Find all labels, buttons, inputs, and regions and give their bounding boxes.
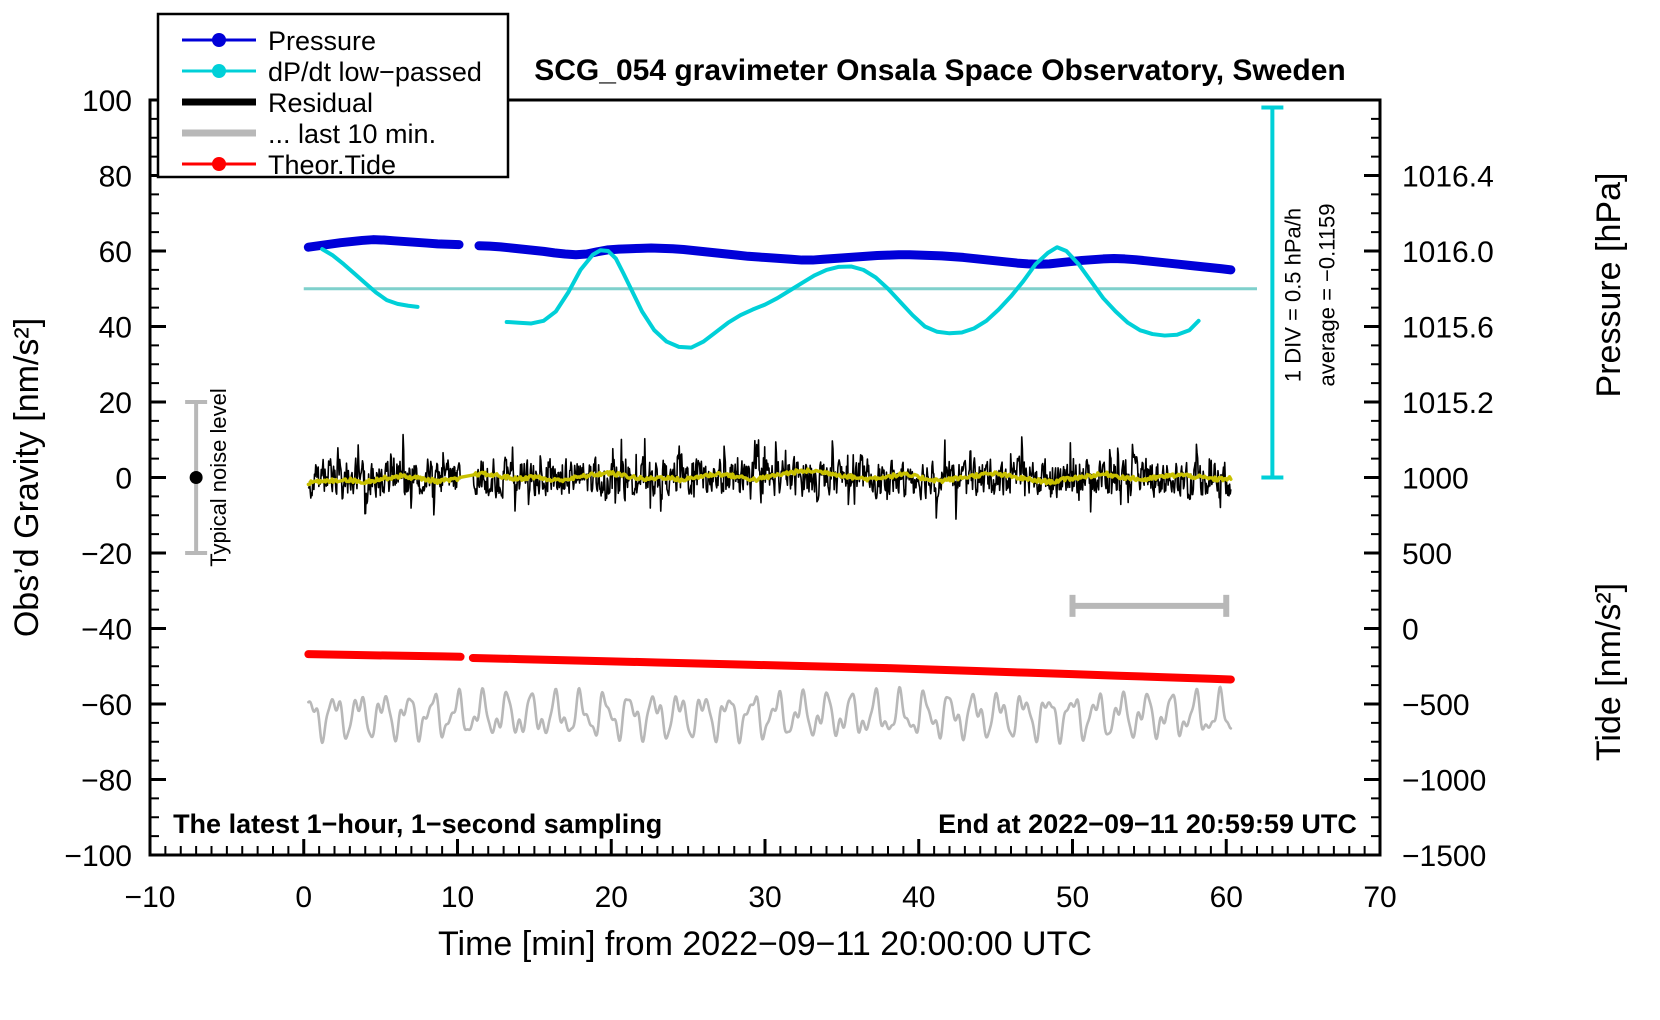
scale-bar-average-label: average = −0.1159 bbox=[1314, 203, 1339, 386]
y-tick-label: −100 bbox=[64, 840, 132, 873]
y-tick-label: 100 bbox=[82, 85, 132, 118]
tide-tick-label: 1000 bbox=[1402, 463, 1469, 496]
theor-tide-trace bbox=[473, 658, 1231, 680]
x-tick-label: 50 bbox=[1056, 881, 1089, 914]
legend-marker-0 bbox=[212, 33, 226, 47]
tide-tick-label: −500 bbox=[1402, 689, 1470, 722]
y-tick-label: 60 bbox=[99, 236, 132, 269]
legend-label-4: Theor.Tide bbox=[268, 150, 396, 180]
tide-axis-title: Tide [nm/s²] bbox=[1590, 583, 1628, 761]
tide-tick-label: −1500 bbox=[1402, 840, 1486, 873]
noise-level-label: Typical noise level bbox=[206, 388, 231, 567]
pressure-axis-title: Pressure [hPa] bbox=[1590, 173, 1628, 398]
y-tick-label: −60 bbox=[81, 689, 132, 722]
chart-page: −10010203040506070Time [min] from 2022−0… bbox=[0, 0, 1660, 1020]
pressure-tick-label: 1015.6 bbox=[1402, 312, 1494, 345]
x-tick-label: 70 bbox=[1363, 881, 1396, 914]
x-axis-title: Time [min] from 2022−09−11 20:00:00 UTC bbox=[438, 925, 1092, 963]
y-tick-label: −80 bbox=[81, 765, 132, 798]
y-tick-label: 80 bbox=[99, 161, 132, 194]
footer-right-label: End at 2022−09−11 20:59:59 UTC bbox=[938, 809, 1357, 839]
y-tick-label: −20 bbox=[81, 538, 132, 571]
x-tick-label: 30 bbox=[748, 881, 781, 914]
tide-tick-label: 500 bbox=[1402, 538, 1452, 571]
legend-marker-4 bbox=[212, 157, 226, 171]
x-tick-label: 10 bbox=[441, 881, 474, 914]
x-tick-label: −10 bbox=[125, 881, 176, 914]
y-tick-label: 20 bbox=[99, 387, 132, 420]
pressure-tick-label: 1016.0 bbox=[1402, 236, 1494, 269]
x-tick-label: 20 bbox=[595, 881, 628, 914]
x-tick-label: 60 bbox=[1210, 881, 1243, 914]
tide-tick-label: 0 bbox=[1402, 614, 1419, 647]
noise-level-dot bbox=[190, 471, 203, 484]
theor-tide-trace bbox=[308, 654, 460, 657]
y-tick-label: 0 bbox=[115, 463, 132, 496]
last10min-trace bbox=[308, 687, 1231, 744]
legend-label-3: ... last 10 min. bbox=[268, 119, 436, 149]
legend-marker-1 bbox=[212, 64, 226, 78]
y-axis-title: Obs’d Gravity [nm/s²] bbox=[8, 318, 46, 637]
gravimeter-chart: −10010203040506070Time [min] from 2022−0… bbox=[0, 0, 1660, 1020]
legend-label-1: dP/dt low−passed bbox=[268, 57, 482, 87]
x-tick-label: 0 bbox=[295, 881, 312, 914]
footer-left-label: The latest 1−hour, 1−second sampling bbox=[173, 809, 662, 839]
legend-label-0: Pressure bbox=[268, 26, 376, 56]
pressure-tick-label: 1015.2 bbox=[1402, 387, 1494, 420]
pressure-trace bbox=[308, 240, 459, 248]
x-tick-label: 40 bbox=[902, 881, 935, 914]
dpdt-trace bbox=[322, 249, 417, 307]
tide-tick-label: −1000 bbox=[1402, 765, 1486, 798]
y-tick-label: 40 bbox=[99, 312, 132, 345]
y-tick-label: −40 bbox=[81, 614, 132, 647]
scale-bar-div-label: 1 DIV = 0.5 hPa/h bbox=[1280, 208, 1305, 382]
pressure-tick-label: 1016.4 bbox=[1402, 161, 1494, 194]
chart-title: SCG_054 gravimeter Onsala Space Observat… bbox=[534, 54, 1346, 87]
legend-label-2: Residual bbox=[268, 88, 373, 118]
